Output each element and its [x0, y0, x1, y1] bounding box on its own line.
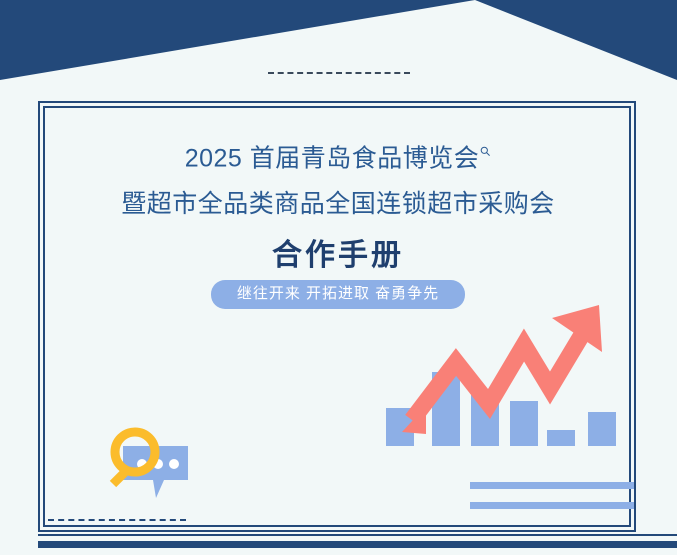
- event-title-line-2: 暨超市全品类商品全国连锁超市采购会: [44, 187, 632, 221]
- magnifier-chat-icon: [90, 418, 202, 510]
- slogan-wrapper: 继往开来 开拓进取 奋勇争先: [44, 280, 632, 309]
- event-title-line-1-text: 2025 首届青岛食品博览会: [185, 144, 480, 172]
- page-title: 合作手册: [44, 237, 632, 275]
- bottom-thin-rule: [38, 534, 677, 536]
- growth-bar-chart-icon: [384, 300, 634, 510]
- bottom-dashed-divider: [48, 519, 186, 521]
- bottom-thick-rule: [38, 541, 677, 548]
- title-block: 2025 首届青岛食品博览会 暨超市全品类商品全国连锁超市采购会 合作手册: [44, 132, 632, 275]
- event-title-line-1: 2025 首届青岛食品博览会: [44, 132, 632, 175]
- poster-page: 2025 首届青岛食品博览会 暨超市全品类商品全国连锁超市采购会 合作手册 继往…: [0, 0, 677, 555]
- status-badge: 继往开来 开拓进取 奋勇争先: [211, 280, 465, 309]
- magnifier-icon: [480, 132, 491, 166]
- top-dashed-divider: [268, 72, 410, 74]
